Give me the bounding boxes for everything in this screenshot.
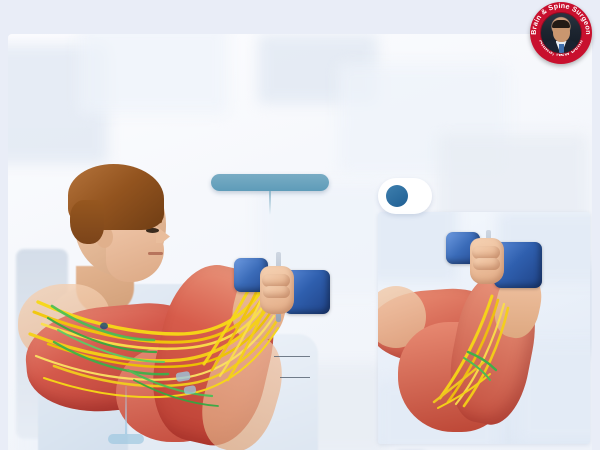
callout-elbow xyxy=(108,434,144,444)
callout-leader-line xyxy=(269,191,271,215)
callout-strengthening-nerve-signal xyxy=(211,174,329,191)
step-number-badge xyxy=(386,185,408,207)
elbow-leader-line xyxy=(125,386,127,434)
biceps-leader-line-lower xyxy=(280,377,310,378)
infographic-poster: Brain & Spine Surgeon AIIMS, New Delhi xyxy=(0,0,600,450)
inset-panel-elbow-flexion xyxy=(378,212,590,444)
poster-card xyxy=(8,34,592,450)
biceps-leader-line-upper xyxy=(274,356,310,357)
dumbbell-main xyxy=(232,248,344,340)
dumbbell-inset xyxy=(444,226,560,300)
step-badge-elbow-flexion-rehabilitation xyxy=(378,178,432,214)
doctor-credential-badge: Brain & Spine Surgeon AIIMS, New Delhi xyxy=(530,2,592,64)
doctor-portrait xyxy=(540,12,582,54)
